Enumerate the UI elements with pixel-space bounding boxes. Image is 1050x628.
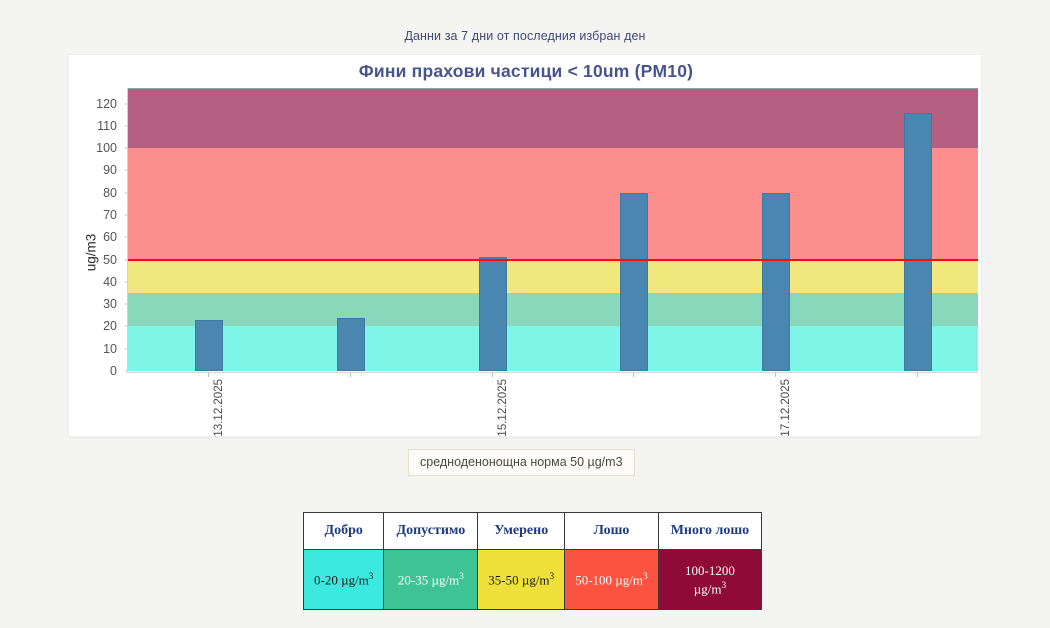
legend-value-row: 0-20 µg/m320-35 µg/m335-50 µg/m350-100 µ… — [304, 550, 762, 610]
legend-header-3: Умерено — [478, 513, 565, 550]
y-tick-label: 100 — [96, 141, 117, 155]
x-tick-label: 17.12.2025 — [780, 379, 792, 437]
legend-range-5: 100-1200 µg/m3 — [658, 550, 761, 610]
plot-area-wrapper: 0102030405060708090100110120 ug/m3 13.12… — [69, 55, 983, 438]
x-tick-mark — [350, 372, 351, 377]
legend-header-row: ДоброДопустимоУмереноЛошоМного лошо — [304, 513, 762, 550]
plot-top-border — [128, 88, 978, 89]
x-tick-mark — [492, 372, 493, 377]
legend-range-3: 35-50 µg/m3 — [478, 550, 565, 610]
y-tick-label: 10 — [103, 342, 117, 356]
y-tick-label: 0 — [110, 364, 117, 378]
y-tick-label: 60 — [103, 230, 117, 244]
threshold-line — [128, 259, 978, 261]
legend-header-5: Много лошо — [658, 513, 761, 550]
quality-band-5 — [128, 88, 978, 148]
bar-5[interactable] — [762, 193, 790, 371]
y-tick-label: 20 — [103, 319, 117, 333]
bar-4[interactable] — [620, 193, 648, 371]
daily-norm-note: средноденонощна норма 50 µg/m3 — [408, 449, 635, 476]
x-tick-mark — [917, 372, 918, 377]
quality-band-4 — [128, 148, 978, 259]
plot-area[interactable] — [127, 88, 978, 371]
chart-card: Фини прахови частици < 10um (PM10) 01020… — [68, 54, 982, 437]
x-axis-line — [127, 372, 978, 373]
x-tick-mark — [208, 372, 209, 377]
bar-1[interactable] — [195, 320, 223, 371]
quality-band-2 — [128, 293, 978, 326]
legend-range-1: 0-20 µg/m3 — [304, 550, 384, 610]
x-tick-mark — [633, 372, 634, 377]
air-quality-legend-table: ДоброДопустимоУмереноЛошоМного лошо 0-20… — [303, 512, 762, 610]
y-tick-label: 70 — [103, 208, 117, 222]
y-tick-label: 110 — [97, 119, 117, 133]
y-axis-label: ug/m3 — [84, 203, 99, 303]
y-tick-label: 120 — [96, 97, 117, 111]
quality-band-1 — [128, 326, 978, 371]
x-tick-mark — [775, 372, 776, 377]
legend-header-2: Допустимо — [384, 513, 478, 550]
bar-6[interactable] — [904, 113, 932, 371]
y-tick-label: 90 — [103, 163, 117, 177]
bar-2[interactable] — [337, 318, 365, 371]
y-tick-label: 30 — [103, 297, 117, 311]
x-tick-label: 15.12.2025 — [497, 379, 509, 437]
legend-header-1: Добро — [304, 513, 384, 550]
page-note: Данни за 7 дни от последния избран ден — [0, 29, 1050, 43]
quality-band-3 — [128, 260, 978, 293]
x-tick-label: 13.12.2025 — [213, 379, 225, 437]
page-root: Данни за 7 дни от последния избран ден Ф… — [0, 0, 1050, 628]
legend-range-2: 20-35 µg/m3 — [384, 550, 478, 610]
legend-header-4: Лошо — [565, 513, 658, 550]
y-tick-label: 40 — [103, 275, 117, 289]
legend-range-4: 50-100 µg/m3 — [565, 550, 658, 610]
y-tick-label: 80 — [103, 186, 117, 200]
y-tick-label: 50 — [103, 253, 117, 267]
bar-3[interactable] — [479, 257, 507, 371]
